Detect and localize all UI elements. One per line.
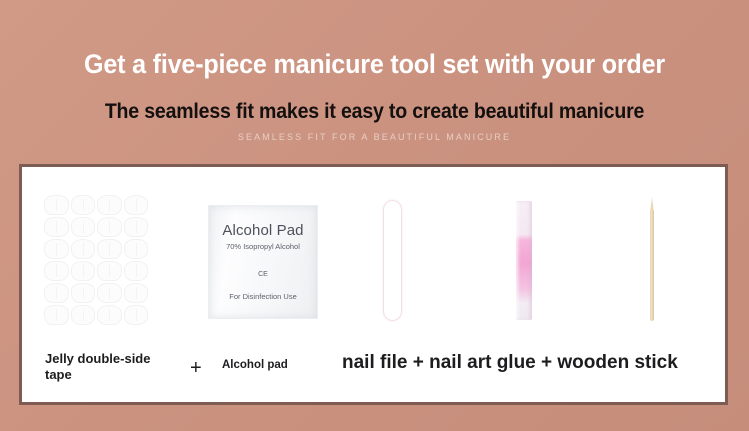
headline: Get a five-piece manicure tool set with …: [26, 50, 723, 80]
tape-tab: [124, 217, 149, 237]
tape-tab: [97, 217, 122, 237]
label-plus-separator: +: [190, 356, 202, 380]
label-remaining-tools: nail file + nail art glue + wooden stick: [342, 351, 678, 374]
subheadline: The seamless fit makes it easy to create…: [26, 100, 723, 123]
packet-subtitle: 70% Isopropyl Alcohol: [209, 242, 317, 251]
alcohol-pad-packet-image: Alcohol Pad 70% Isopropyl Alcohol CE For…: [208, 205, 318, 319]
tape-tab: [124, 195, 149, 215]
product-labels-row: Jelly double-side tape + Alcohol pad nai…: [22, 345, 725, 405]
tape-tab: [124, 239, 149, 259]
promo-banner: Get a five-piece manicure tool set with …: [0, 0, 749, 431]
tape-tab: [44, 239, 69, 259]
label-jelly-tape: Jelly double-side tape: [45, 351, 165, 383]
nail-file-image: [384, 201, 401, 320]
tape-tab: [97, 195, 122, 215]
tape-tab: [97, 239, 122, 259]
tape-tab: [44, 305, 69, 325]
packet-usage-text: For Disinfection Use: [209, 292, 317, 301]
tape-tab: [124, 305, 149, 325]
tape-tab: [71, 261, 96, 281]
jelly-tape-sheet-image: [44, 195, 148, 325]
stick-body: [650, 211, 654, 321]
label-alcohol-pad: Alcohol pad: [222, 358, 288, 372]
tape-tab: [124, 261, 149, 281]
product-images-row: Alcohol Pad 70% Isopropyl Alcohol CE For…: [22, 167, 725, 345]
tape-tab: [44, 217, 69, 237]
tape-tab: [71, 305, 96, 325]
tape-tab: [97, 283, 122, 303]
tape-tab: [71, 283, 96, 303]
tape-tab: [124, 283, 149, 303]
packet-title: Alcohol Pad: [209, 222, 317, 239]
ce-mark: CE: [209, 271, 317, 278]
caption-text: SEAMLESS FIT FOR A BEAUTIFUL MANICURE: [0, 132, 749, 142]
product-panel: Alcohol Pad 70% Isopropyl Alcohol CE For…: [19, 164, 728, 405]
tape-tab: [44, 195, 69, 215]
tape-tab: [97, 305, 122, 325]
nail-art-glue-image: [516, 201, 532, 320]
tape-tab: [71, 195, 96, 215]
tape-tab: [71, 239, 96, 259]
tape-tab: [71, 217, 96, 237]
tape-tab: [44, 261, 69, 281]
tape-tab: [97, 261, 122, 281]
wooden-stick-image: [650, 197, 654, 321]
tape-tab: [44, 283, 69, 303]
